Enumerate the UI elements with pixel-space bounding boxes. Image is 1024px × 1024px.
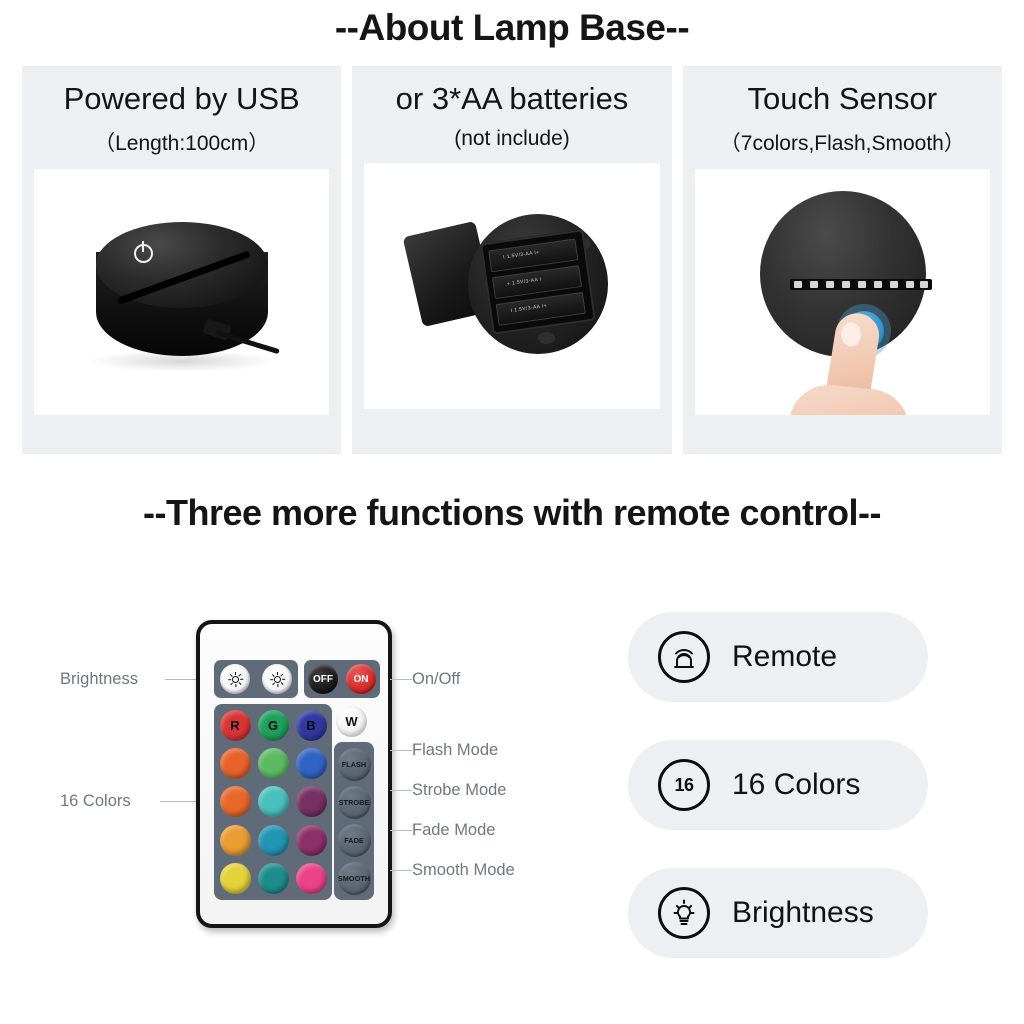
led xyxy=(906,281,914,288)
color-button[interactable] xyxy=(296,863,327,894)
leader-line-onoff xyxy=(390,679,412,680)
remote-top-row: OFF ON xyxy=(214,660,380,698)
color-button[interactable] xyxy=(258,863,289,894)
callout-brightness: Brightness xyxy=(60,670,138,689)
remote-control-body: OFF ON R G B xyxy=(196,620,392,928)
panel-aa-batteries: or 3*AA batteries (not include) I 1.5V/3… xyxy=(352,66,671,454)
color-button[interactable] xyxy=(296,748,327,779)
infographic-page: --About Lamp Base-- Powered by USB （Leng… xyxy=(0,0,1024,1024)
color-button[interactable] xyxy=(258,825,289,856)
feature-pill-label: 16 Colors xyxy=(732,768,860,802)
bulb-icon xyxy=(658,887,710,939)
battery-slot-label: + 1.5V/3-AA I xyxy=(507,276,542,287)
color-button[interactable] xyxy=(220,748,251,779)
fingernail xyxy=(841,322,861,346)
color-button[interactable] xyxy=(220,863,251,894)
leader-line-smooth xyxy=(390,870,412,871)
power-icon xyxy=(134,244,153,263)
flash-mode-button[interactable]: FLASH xyxy=(338,748,371,781)
power-pad: OFF ON xyxy=(304,660,380,698)
callout-fade-mode: Fade Mode xyxy=(412,821,495,840)
mode-button-pad: FLASH STROBE FADE SMOOTH xyxy=(334,742,374,900)
panel-touch-sensor: Touch Sensor （7colors,Flash,Smooth） xyxy=(683,66,1002,454)
battery-slot-label: I 1.5V/3-AA I+ xyxy=(503,249,540,260)
color-button[interactable] xyxy=(258,748,289,779)
smooth-mode-button[interactable]: SMOOTH xyxy=(338,862,371,895)
panel-title: Powered by USB xyxy=(64,80,300,119)
led xyxy=(842,281,850,288)
feature-pill-remote: Remote xyxy=(628,612,928,702)
sun-dim-icon xyxy=(228,672,243,687)
led xyxy=(810,281,818,288)
battery-base-assembly: I 1.5V/3-AA I+ + 1.5V/3-AA I I 1.5V/3-AA… xyxy=(412,206,612,376)
page-title-about-lamp-base: --About Lamp Base-- xyxy=(0,7,1024,49)
panel-title: or 3*AA batteries xyxy=(396,80,629,119)
feature-pill-16-colors: 16 16 Colors xyxy=(628,740,928,830)
leader-line-brightness xyxy=(165,679,199,680)
color-button[interactable]: R xyxy=(220,710,251,741)
battery-bay: I 1.5V/3-AA I+ + 1.5V/3-AA I I 1.5V/3-AA… xyxy=(480,229,596,335)
sixteen-badge-text: 16 xyxy=(674,775,693,796)
page-title-three-more-functions: --Three more functions with remote contr… xyxy=(0,492,1024,534)
led-strip xyxy=(790,279,932,290)
led xyxy=(890,281,898,288)
rubber-foot xyxy=(538,332,555,344)
panel-title: Touch Sensor xyxy=(748,80,938,119)
leader-line-strobe xyxy=(390,790,412,791)
leader-line-flash xyxy=(390,750,412,751)
remote-signal-icon xyxy=(658,631,710,683)
remote-control-diagram: Brightness 16 Colors xyxy=(0,560,620,980)
color-button[interactable] xyxy=(258,786,289,817)
color-button[interactable]: G xyxy=(258,710,289,741)
panel-subtitle: （Length:100cm） xyxy=(94,127,269,157)
base-underside-disc: I 1.5V/3-AA I+ + 1.5V/3-AA I I 1.5V/3-AA… xyxy=(468,214,608,354)
led xyxy=(874,281,882,288)
feature-pill-brightness: Brightness xyxy=(628,868,928,958)
lamp-base-panels: Powered by USB （Length:100cm） or 3*AA ba… xyxy=(22,66,1002,454)
fade-mode-button[interactable]: FADE xyxy=(338,824,371,857)
strobe-mode-button[interactable]: STROBE xyxy=(338,786,371,819)
lamp-base-usb-photo xyxy=(34,169,329,415)
panel-subtitle: （7colors,Flash,Smooth） xyxy=(720,127,965,157)
color-button[interactable] xyxy=(296,825,327,856)
brightness-pad xyxy=(214,660,298,698)
feature-pill-list: Remote 16 16 Colors Brig xyxy=(628,612,928,958)
led xyxy=(826,281,834,288)
leader-line-fade xyxy=(390,830,412,831)
touch-base-assembly xyxy=(742,187,942,397)
color-button[interactable] xyxy=(220,786,251,817)
panel-subtitle: (not include) xyxy=(454,127,570,151)
color-button-grid: R G B xyxy=(214,704,332,900)
sixteen-badge-icon: 16 xyxy=(658,759,710,811)
color-button[interactable]: B xyxy=(296,710,327,741)
brightness-up-button[interactable] xyxy=(262,664,292,694)
white-color-button[interactable]: W xyxy=(336,706,367,737)
callout-on-off: On/Off xyxy=(412,670,460,689)
callout-smooth-mode: Smooth Mode xyxy=(412,861,515,880)
battery-slot-label: I 1.5V/3-AA I+ xyxy=(510,303,547,314)
color-button[interactable] xyxy=(296,786,327,817)
callout-strobe-mode: Strobe Mode xyxy=(412,781,506,800)
on-button[interactable]: ON xyxy=(346,664,376,694)
sun-bright-icon xyxy=(270,672,285,687)
led xyxy=(920,281,928,288)
led xyxy=(858,281,866,288)
callout-16-colors: 16 Colors xyxy=(60,792,131,811)
brightness-down-button[interactable] xyxy=(220,664,250,694)
touch-sensor-photo xyxy=(695,169,990,415)
feature-pill-label: Remote xyxy=(732,640,837,674)
callout-flash-mode: Flash Mode xyxy=(412,741,498,760)
lamp-base-body xyxy=(96,222,268,372)
panel-powered-by-usb: Powered by USB （Length:100cm） xyxy=(22,66,341,454)
battery-compartment-photo: I 1.5V/3-AA I+ + 1.5V/3-AA I I 1.5V/3-AA… xyxy=(364,163,659,409)
off-button[interactable]: OFF xyxy=(308,664,338,694)
color-button[interactable] xyxy=(220,825,251,856)
led xyxy=(794,281,802,288)
feature-pill-label: Brightness xyxy=(732,896,874,930)
base-top-surface xyxy=(96,222,268,308)
